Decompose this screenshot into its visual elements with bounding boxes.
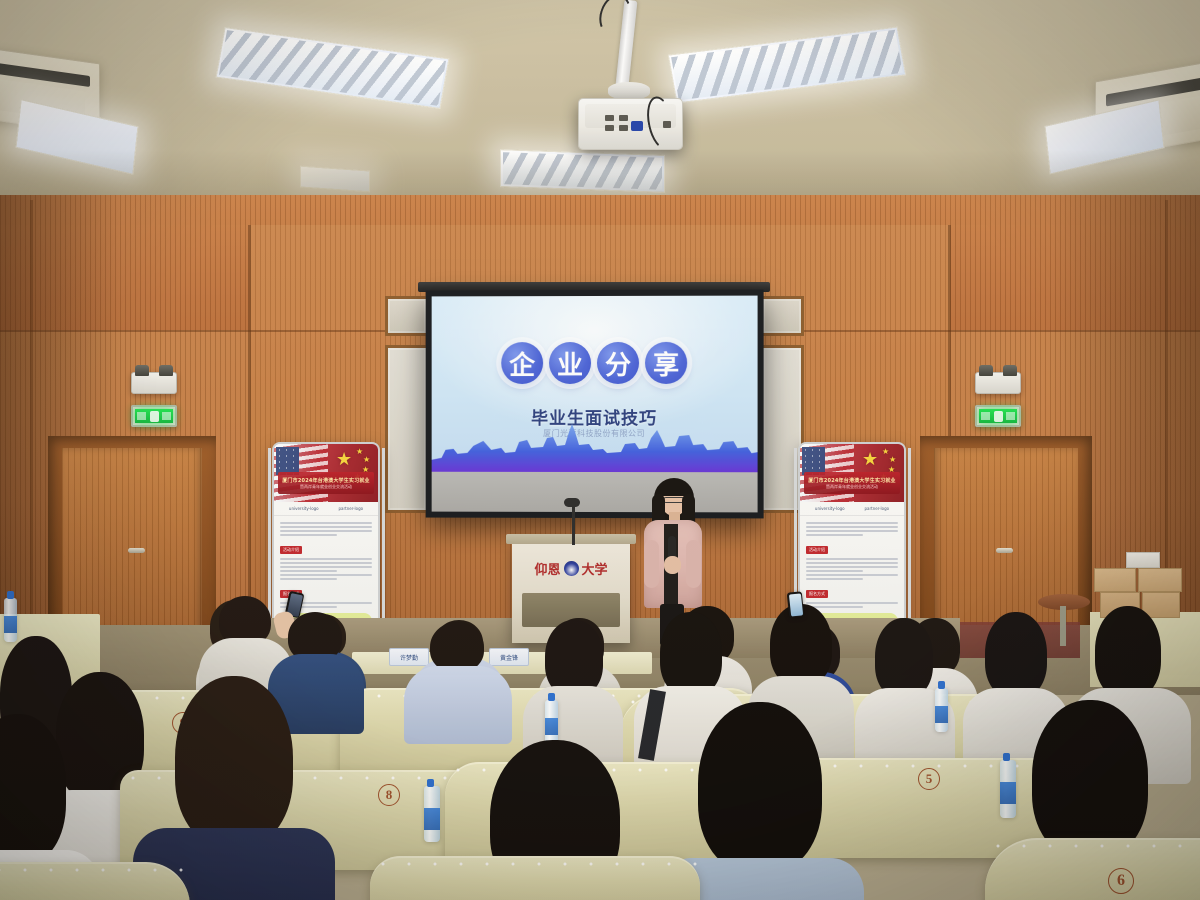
- bench-rivets: [0, 868, 190, 872]
- poster-right-logos: university-logo partner-logo: [800, 502, 904, 516]
- china-flag-star-2-right: ★: [889, 456, 896, 464]
- poster-left-logo-2: partner-logo: [338, 506, 363, 511]
- running-man-icon: [150, 411, 159, 422]
- poster-right-text-line: [806, 526, 898, 528]
- person-hair: [875, 618, 933, 698]
- exit-sign-right-bar-b: [1006, 412, 1015, 420]
- poster-left-banner: 厦门市2024年台港澳大学生实习就业 暨两岸青年就业创业交流活动: [278, 472, 374, 494]
- poster-right-logo-1: university-logo: [815, 506, 845, 511]
- projector-port-1: [605, 115, 614, 121]
- bottle-label: [424, 808, 440, 830]
- podium-name-left: 仰恩: [534, 559, 560, 578]
- poster-right-logo-2: partner-logo: [864, 506, 889, 511]
- water-bottle-1[interactable]: [545, 700, 558, 744]
- person-head: [430, 622, 484, 672]
- wall-panel-left: [385, 345, 429, 513]
- projector-port-2: [619, 115, 628, 121]
- phone-screen: [788, 593, 802, 616]
- stool-leg: [1060, 606, 1066, 646]
- exit-sign-right-bar-a: [981, 412, 990, 420]
- poster-right-banner-subtitle: 暨两岸青年就业创业交流活动: [826, 484, 878, 490]
- poster-left-logos: university-logo partner-logo: [274, 502, 378, 516]
- person-hair: [545, 620, 603, 696]
- poster-left-text-line: [280, 530, 372, 532]
- person-hair: [1032, 700, 1148, 858]
- emergency-lamp-right-b: [1003, 365, 1017, 376]
- projection-screen: 企 业 分 享 毕业生面试技巧 厦门光莆科技股份有限公司: [426, 290, 764, 519]
- bottle-label: [4, 616, 17, 633]
- door-handle-right[interactable]: [996, 548, 1013, 553]
- exit-sign-right: [975, 405, 1021, 427]
- raised-phone-2[interactable]: [787, 591, 805, 617]
- person-hair: [985, 612, 1047, 698]
- poster-left-text-line: [280, 570, 337, 572]
- exit-sign-left-panel: [135, 409, 173, 423]
- wall-panel-left-upper: [385, 296, 429, 336]
- bottle-label: [545, 718, 558, 735]
- person-hair: [660, 612, 722, 696]
- podium-mic-head: [564, 498, 580, 507]
- poster-left-text-line: [280, 534, 337, 536]
- emergency-light-right: [975, 372, 1021, 394]
- bottle-label: [1000, 782, 1016, 804]
- seat-number-8: 8: [378, 784, 400, 806]
- emergency-light-left: [131, 372, 177, 394]
- door-left[interactable]: [62, 448, 202, 631]
- poster-right-banner-title: 厦门市2024年台港澳大学生实习就业: [808, 477, 896, 484]
- bench-rivets: [370, 862, 700, 866]
- slide-title-char-1: 企: [501, 342, 543, 384]
- poster-right-banner: 厦门市2024年台港澳大学生实习就业 暨两岸青年就业创业交流活动: [804, 472, 900, 494]
- nameplate-1-text: 许梦勤: [400, 653, 418, 662]
- poster-right-section-2: 报名方式: [806, 590, 828, 598]
- presenter-arm-left: [644, 540, 659, 588]
- china-flag-star-big-left: ★: [336, 450, 352, 468]
- podium-university-name: 仰恩 大学: [512, 559, 630, 578]
- emergency-lamp-right-a: [979, 365, 993, 376]
- poster-right-text-line: [806, 522, 898, 524]
- water-bottle-2[interactable]: [935, 688, 948, 732]
- person-torso: [404, 666, 512, 744]
- seat-number-5: 5: [918, 768, 940, 790]
- poster-right-text-line: [806, 574, 898, 576]
- water-bottle-3[interactable]: [424, 786, 440, 842]
- nameplate-2-text: 黄金锋: [500, 653, 518, 662]
- slide-title-char-2: 业: [549, 342, 591, 384]
- person-hair: [1095, 606, 1161, 698]
- wall-panel-right-upper: [760, 296, 804, 336]
- bottle-label: [935, 706, 948, 723]
- cardboard-box-3: [1094, 568, 1136, 592]
- exit-sign-right-panel: [979, 409, 1017, 423]
- projector-port-3: [605, 125, 614, 131]
- seat-number-6-front: 6: [1108, 868, 1134, 894]
- poster-right-text-line: [806, 530, 898, 532]
- exit-sign-left-bar-a: [137, 412, 146, 420]
- poster-right-text-line: [806, 570, 863, 572]
- exit-sign-left: [131, 405, 177, 427]
- podium-mic-stand: [572, 505, 575, 545]
- wall-seam-v-3: [30, 200, 33, 660]
- projector-port-4: [619, 125, 628, 131]
- cardboard-box-4: [1138, 568, 1182, 592]
- podium-name-right: 大学: [582, 559, 608, 578]
- running-man-icon-right: [994, 411, 1003, 422]
- poster-right-text-line: [806, 578, 863, 580]
- wall-seam-v-1: [248, 225, 251, 645]
- presenter-arm-right: [686, 540, 701, 588]
- seat-bench-front-left[interactable]: [0, 862, 190, 900]
- poster-left-banner-title: 厦门市2024年台港澳大学生实习就业: [282, 477, 370, 484]
- slide-title-char-4: 享: [645, 342, 687, 384]
- water-bottle-far-left: [4, 598, 17, 642]
- seat-bench-front-mid[interactable]: [370, 856, 700, 900]
- door-handle-left[interactable]: [128, 548, 145, 553]
- poster-right-text-line: [806, 558, 898, 560]
- projector-vga-connector: [631, 121, 643, 131]
- exit-sign-left-bar-b: [162, 412, 171, 420]
- poster-right-section-1: 活动介绍: [806, 546, 828, 554]
- presenter-hands: [664, 556, 681, 574]
- slide-skyline-graphic: [432, 420, 758, 474]
- poster-left-text-line: [280, 566, 372, 568]
- slide-title: 企 业 分 享: [432, 342, 758, 384]
- usa-flag-canton-left: [276, 447, 299, 475]
- poster-right-text-line: [806, 534, 863, 536]
- poster-right-text-line: [806, 602, 898, 604]
- poster-right-flag-header: ★ ★ ★ ★ ★ 厦门市2024年台港澳大学生实习就业 暨两岸青年就业创业交流…: [800, 444, 904, 502]
- poster-left-section-1: 活动介绍: [280, 546, 302, 554]
- seat-bench-front-right[interactable]: [985, 838, 1200, 900]
- person-hair: [698, 702, 822, 872]
- poster-right-text-line: [806, 566, 898, 568]
- poster-left-banner-subtitle: 暨两岸青年就业创业交流活动: [300, 484, 352, 490]
- lecture-hall-photo: 企 业 分 享 毕业生面试技巧 厦门光莆科技股份有限公司: [0, 0, 1200, 900]
- poster-left-text-line: [280, 574, 372, 576]
- emergency-lamp-left-b: [159, 365, 173, 376]
- bench-rivets: [985, 844, 1200, 848]
- university-crest-icon: [564, 561, 579, 576]
- poster-right-text-line: [806, 562, 898, 564]
- slide-title-char-3: 分: [597, 342, 639, 384]
- poster-left-flag-header: ★ ★ ★ ★ ★ 厦门市2024年台港澳大学生实习就业 暨两岸青年就业创业交流…: [274, 444, 378, 502]
- nameplate-1: 许梦勤: [389, 648, 429, 666]
- nameplate-2: 黄金锋: [489, 648, 529, 666]
- usa-flag-canton-right: [802, 447, 825, 475]
- water-bottle-5[interactable]: [1000, 760, 1016, 818]
- poster-left-text-line: [280, 578, 337, 580]
- person-hair: [175, 676, 293, 846]
- poster-left-text-line: [280, 526, 372, 528]
- poster-left-text-line: [280, 522, 372, 524]
- emergency-lamp-left-a: [135, 365, 149, 376]
- china-flag-star-2-left: ★: [363, 456, 370, 464]
- china-flag-star-big-right: ★: [862, 450, 878, 468]
- poster-left-text-line: [280, 562, 372, 564]
- poster-left-text-line: [280, 558, 372, 560]
- podium-top-surface: [506, 534, 636, 544]
- white-box-top: [1126, 552, 1160, 568]
- poster-left-logo-1: university-logo: [289, 506, 319, 511]
